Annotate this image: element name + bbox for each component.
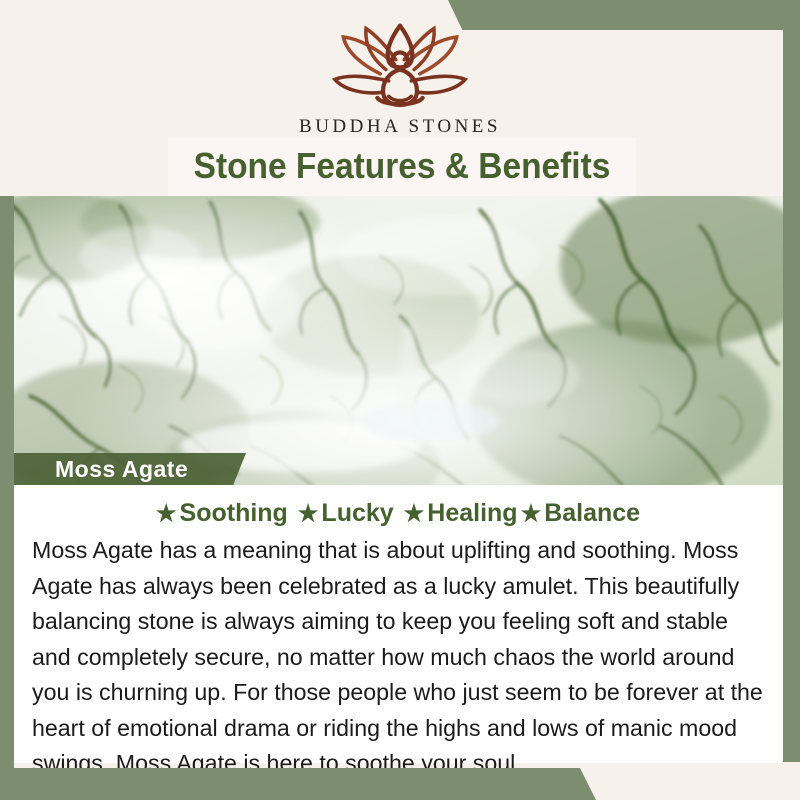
keyword-lucky: Lucky bbox=[319, 499, 395, 527]
star-icon: ★ bbox=[520, 500, 543, 526]
brand-logo: BUDDHA STONES bbox=[0, 20, 800, 138]
star-icon: ★ bbox=[403, 500, 426, 526]
brand-name: BUDDHA STONES bbox=[0, 116, 800, 138]
stone-name-label: Moss Agate bbox=[55, 454, 188, 484]
keyword-soothing: Soothing bbox=[178, 499, 290, 527]
content-card: ★Soothing ★Lucky ★Healing★Balance Moss A… bbox=[14, 485, 783, 763]
star-icon: ★ bbox=[297, 500, 320, 526]
frame-band-right bbox=[783, 0, 800, 762]
keyword-balance: Balance bbox=[542, 499, 642, 527]
moss-agate-stone-photo bbox=[0, 196, 783, 485]
keyword-healing: Healing bbox=[425, 499, 519, 527]
frame-band-left bbox=[0, 196, 14, 800]
stone-description: Moss Agate has a meaning that is about u… bbox=[32, 533, 765, 782]
lotus-meditation-icon bbox=[315, 20, 485, 112]
product-info-card: BUDDHA STONES Stone Features & Benefits bbox=[0, 0, 800, 800]
page-title: Stone Features & Benefits bbox=[184, 139, 619, 193]
star-icon: ★ bbox=[155, 500, 178, 526]
benefit-keywords: ★Soothing ★Lucky ★Healing★Balance bbox=[14, 499, 783, 528]
